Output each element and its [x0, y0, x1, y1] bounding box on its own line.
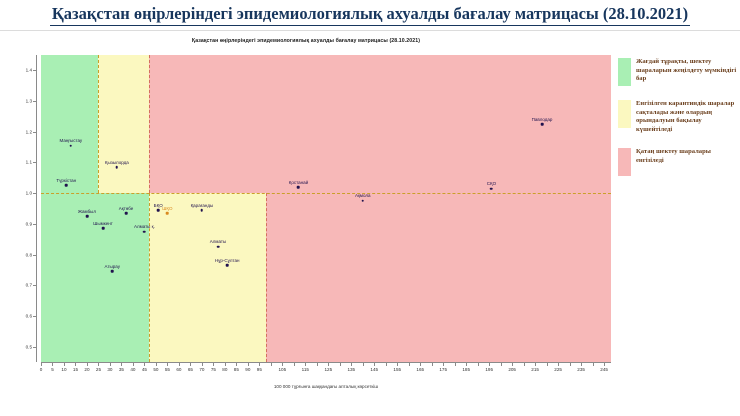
legend-green-label: Жағдай тұрақты, шектеу шараларын жеңілде… [636, 58, 738, 84]
page-title: Қазақстан өңірлеріндегі эпидемиологиялық… [50, 4, 690, 26]
data-point[interactable] [86, 215, 89, 218]
x-tick [501, 362, 502, 366]
data-point-label: Қарағанды [191, 203, 214, 208]
data-point[interactable] [143, 230, 146, 233]
threshold-line-lower-green [149, 193, 150, 362]
x-tick [604, 362, 605, 366]
x-tick [351, 362, 352, 366]
data-point-label: ШҚО [162, 206, 172, 211]
data-point[interactable] [116, 166, 119, 169]
x-tick-label: 205 [508, 367, 516, 372]
x-tick [328, 362, 329, 366]
data-point[interactable] [102, 227, 105, 230]
x-axis-line [41, 362, 611, 363]
x-tick [478, 362, 479, 366]
y-tick-label: 0.9 [20, 221, 32, 226]
threshold-line-upper-green [98, 55, 99, 193]
x-tick-label: 60 [176, 367, 181, 372]
x-tick [179, 362, 180, 366]
x-tick [363, 362, 364, 366]
chart-plot-area: МаңғыстауТүркістанҚызылордаҚостанайСҚОПа… [41, 55, 611, 362]
x-tick [489, 362, 490, 366]
y-tick [33, 347, 37, 348]
x-tick [455, 362, 456, 366]
x-tick [167, 362, 168, 366]
x-tick [144, 362, 145, 366]
legend-green: Жағдай тұрақты, шектеу шараларын жеңілде… [618, 58, 738, 86]
x-tick [52, 362, 53, 366]
page-header: Қазақстан өңірлеріндегі эпидемиологиялық… [0, 0, 740, 30]
x-tick-label: 80 [222, 367, 227, 372]
chart-legend: Жағдай тұрақты, шектеу шараларын жеңілде… [618, 58, 738, 190]
legend-yellow-swatch [618, 100, 631, 128]
y-tick [33, 101, 37, 102]
y-tick-label: 0.7 [20, 283, 32, 288]
x-tick [225, 362, 226, 366]
y-tick-label: 1.1 [20, 160, 32, 165]
zone-yellow-upper [98, 55, 149, 193]
x-tick [386, 362, 387, 366]
x-tick-label: 105 [278, 367, 286, 372]
data-point-label: Түркістан [56, 178, 76, 183]
x-tick-label: 245 [600, 367, 608, 372]
x-tick-label: 90 [245, 367, 250, 372]
x-tick-label: 225 [554, 367, 562, 372]
data-point[interactable] [111, 270, 114, 273]
x-tick-label: 115 [302, 367, 309, 372]
x-tick [87, 362, 88, 366]
x-tick-label: 20 [84, 367, 89, 372]
x-tick [156, 362, 157, 366]
x-tick [271, 362, 272, 366]
data-point-label: Жамбыл [78, 209, 96, 214]
x-tick [190, 362, 191, 366]
x-tick [581, 362, 582, 366]
x-axis-title: 100 000 тұрғынға шаққандағы апталық көрс… [41, 384, 611, 389]
x-tick-label: 155 [393, 367, 401, 372]
x-tick-label: 35 [119, 367, 124, 372]
x-tick-label: 185 [462, 367, 470, 372]
x-tick-label: 165 [416, 367, 424, 372]
x-tick [236, 362, 237, 366]
x-tick-label: 175 [439, 367, 447, 372]
data-point-label: Алматы [210, 239, 226, 244]
data-point-label: Атырау [105, 264, 120, 269]
zone-pink-lower [266, 193, 611, 362]
y-tick [33, 162, 37, 163]
x-tick [259, 362, 260, 366]
x-tick [570, 362, 571, 366]
data-point-label: Ақтөбе [119, 206, 134, 211]
chart-title: Қазақстан өңірлеріндегі эпидемиологиялық… [0, 38, 612, 44]
x-tick [397, 362, 398, 366]
x-tick [340, 362, 341, 366]
legend-pink-swatch [618, 148, 631, 176]
legend-green-swatch [618, 58, 631, 86]
y-tick [33, 132, 37, 133]
x-tick [432, 362, 433, 366]
zone-yellow-lower [149, 193, 266, 362]
x-tick [420, 362, 421, 366]
legend-pink: Қатаң шектеу шаралары енгізіледі [618, 148, 738, 176]
x-tick-label: 25 [96, 367, 101, 372]
legend-yellow-label: Енгізілген карантиндік шаралар сақталады… [636, 100, 738, 134]
x-tick-label: 85 [234, 367, 239, 372]
data-point[interactable] [65, 184, 68, 187]
x-tick-label: 95 [257, 367, 262, 372]
data-point[interactable] [217, 246, 220, 249]
x-tick-label: 50 [153, 367, 158, 372]
x-tick-label: 30 [107, 367, 112, 372]
x-tick-label: 65 [188, 367, 193, 372]
x-tick [248, 362, 249, 366]
x-tick [535, 362, 536, 366]
data-point[interactable] [490, 187, 493, 190]
y-tick-label: 1.3 [20, 99, 32, 104]
data-point-label: Нұр-Сұлтан [215, 258, 240, 263]
y-tick-label: 0.8 [20, 252, 32, 257]
x-tick-label: 75 [211, 367, 216, 372]
data-point[interactable] [541, 123, 544, 126]
y-tick [33, 316, 37, 317]
data-point[interactable] [166, 212, 169, 215]
x-tick-label: 215 [531, 367, 539, 372]
data-point[interactable] [201, 209, 204, 212]
y-tick-label: 1.4 [20, 68, 32, 73]
x-tick-label: 135 [347, 367, 355, 372]
header-divider [0, 30, 740, 31]
x-tick [374, 362, 375, 366]
y-tick [33, 285, 37, 286]
y-tick [33, 255, 37, 256]
x-tick [317, 362, 318, 366]
x-tick-label: 40 [130, 367, 135, 372]
data-point[interactable] [70, 144, 73, 147]
x-tick-label: 45 [142, 367, 147, 372]
x-tick [41, 362, 42, 366]
data-point-label: Павлодар [532, 117, 553, 122]
y-tick [33, 193, 37, 194]
x-tick-label: 70 [199, 367, 204, 372]
x-tick [133, 362, 134, 366]
zone-green-lower [41, 193, 149, 362]
legend-yellow: Енгізілген карантиндік шаралар сақталады… [618, 100, 738, 134]
x-tick [110, 362, 111, 366]
x-tick [202, 362, 203, 366]
x-tick [282, 362, 283, 366]
x-tick [593, 362, 594, 366]
y-tick [33, 70, 37, 71]
threshold-line-horizontal [41, 193, 611, 194]
y-tick-label: 0.5 [20, 344, 32, 349]
x-tick-label: 145 [370, 367, 378, 372]
x-tick [75, 362, 76, 366]
x-tick-label: 195 [485, 367, 493, 372]
x-tick [558, 362, 559, 366]
x-tick [547, 362, 548, 366]
x-tick [294, 362, 295, 366]
data-point-label: Қызылорда [105, 160, 129, 165]
data-point[interactable] [226, 264, 229, 267]
data-point[interactable] [361, 200, 364, 203]
x-tick-label: 15 [73, 367, 78, 372]
y-tick-label: 1.0 [20, 191, 32, 196]
x-tick [305, 362, 306, 366]
data-point[interactable] [297, 186, 300, 189]
data-point-label: Маңғыстау [60, 138, 83, 143]
data-point-label: Алматы қ. [134, 224, 155, 229]
x-tick-label: 5 [51, 367, 54, 372]
x-tick-label: 55 [165, 367, 170, 372]
data-point-label: СҚО [487, 181, 496, 186]
legend-pink-label: Қатаң шектеу шаралары енгізіледі [636, 148, 738, 165]
x-tick [512, 362, 513, 366]
x-tick [409, 362, 410, 366]
threshold-line-upper-yellow [149, 55, 150, 193]
x-tick-label: 125 [324, 367, 332, 372]
x-tick [466, 362, 467, 366]
y-tick [33, 224, 37, 225]
x-tick-label: 235 [577, 367, 585, 372]
x-tick [64, 362, 65, 366]
data-point[interactable] [125, 212, 128, 215]
threshold-line-lower-yellow [266, 193, 267, 362]
y-tick-label: 0.6 [20, 313, 32, 318]
data-point-label: Ақмола [355, 193, 371, 198]
x-tick-label: 10 [61, 367, 66, 372]
y-tick-label: 1.2 [20, 129, 32, 134]
zone-green-upper [41, 55, 98, 193]
data-point-label: Қостанай [289, 180, 308, 185]
x-tick [98, 362, 99, 366]
x-tick [524, 362, 525, 366]
data-point-label: Шымкент [93, 221, 113, 226]
x-tick-label: 0 [40, 367, 43, 372]
x-tick [121, 362, 122, 366]
x-tick [213, 362, 214, 366]
data-point[interactable] [157, 209, 160, 212]
x-tick [443, 362, 444, 366]
